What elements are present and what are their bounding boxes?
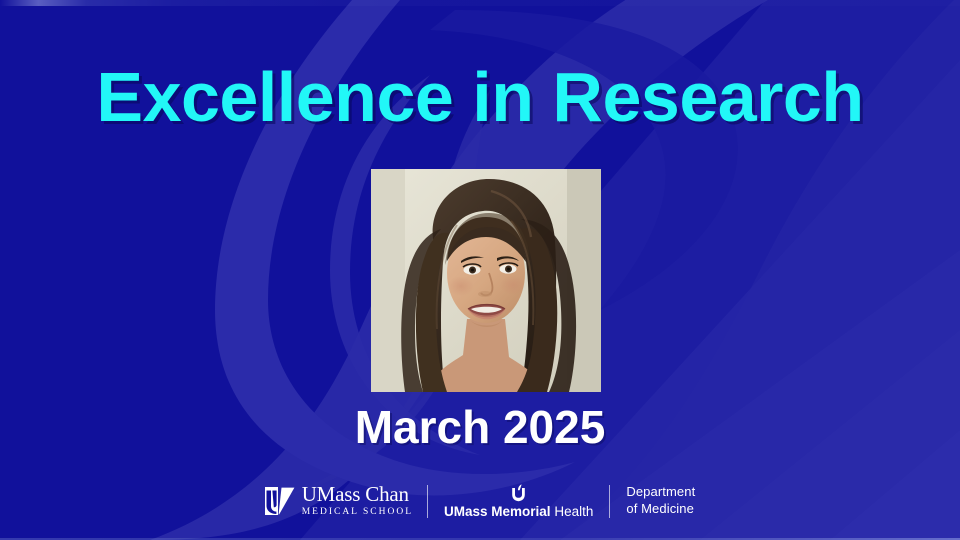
department-of-medicine-logo: Department of Medicine: [610, 484, 695, 517]
umass-chan-wordmark: UMass Chan: [302, 484, 413, 505]
umass-memorial-wordmark: UMass Memorial Health: [444, 505, 593, 519]
department-line-1: Department: [626, 484, 695, 501]
umass-chan-monogram-icon: [265, 487, 295, 515]
portrait-photo: [371, 169, 601, 392]
umass-chan-logo: UMass Chan MEDICAL SCHOOL: [265, 484, 427, 518]
umass-memorial-name: UMass Memorial: [444, 504, 551, 519]
umass-memorial-health-logo: UMass Memorial Health: [428, 484, 609, 519]
slide-date: March 2025: [0, 404, 960, 450]
logo-bar: UMass Chan MEDICAL SCHOOL UMass Memorial…: [0, 478, 960, 524]
umass-memorial-tulip-icon: [510, 484, 527, 502]
presentation-slide: Excellence in Research: [0, 0, 960, 540]
slide-title: Excellence in Research: [0, 62, 960, 132]
department-line-2: of Medicine: [626, 501, 695, 518]
portrait-illustration: [371, 169, 601, 392]
top-edge-glow: [0, 0, 960, 6]
umass-chan-subtitle: MEDICAL SCHOOL: [302, 508, 413, 518]
umass-memorial-health-word: Health: [554, 504, 593, 519]
